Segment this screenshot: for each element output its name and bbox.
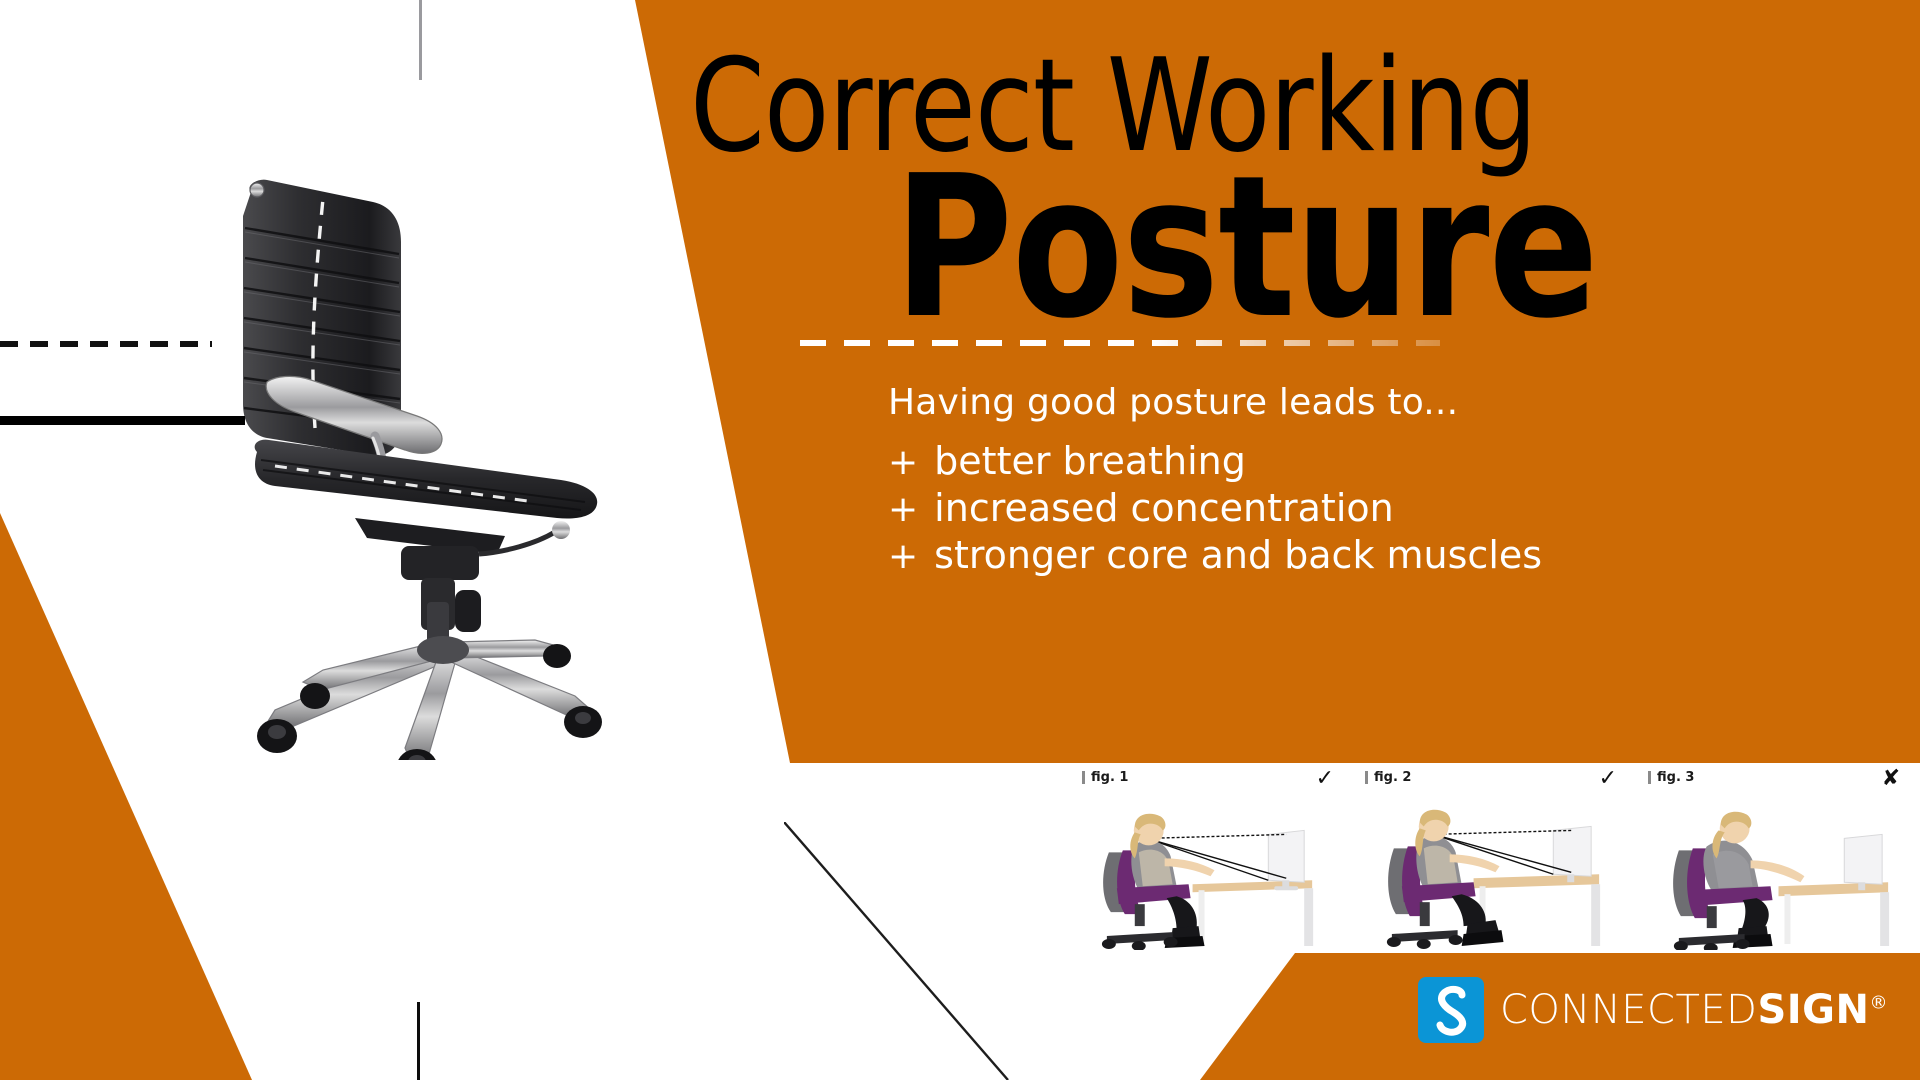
registered-trademark-icon: ®	[1869, 993, 1888, 1014]
figure-caption: fig. 1	[1082, 771, 1128, 784]
figure-illustration	[1356, 800, 1637, 950]
check-icon: ✓	[1316, 767, 1334, 789]
list-item: + increased concentration	[888, 485, 1542, 532]
list-item-label: stronger core and back muscles	[934, 532, 1542, 578]
figure-illustration	[1073, 800, 1354, 950]
brand-logo[interactable]: CONNECTEDSIGN®	[1418, 977, 1888, 1043]
figure-illustration	[1639, 800, 1920, 950]
decor-vertical-line-top	[419, 0, 422, 80]
brand-wordmark: CONNECTEDSIGN®	[1500, 987, 1888, 1033]
benefits-list: + better breathing + increased concentra…	[888, 438, 1542, 579]
decor-vertical-line-bottom	[417, 1002, 420, 1080]
brand-word-sign: SIGN	[1757, 987, 1869, 1033]
headline-line-2: Posture	[894, 164, 1810, 333]
figure-panel-3: fig. 3 ✘	[1637, 765, 1920, 950]
poster-canvas: Correct Working Posture Having good post…	[0, 0, 1920, 1080]
posture-figure-strip: fig. 1 ✓	[1073, 765, 1920, 950]
plus-icon: +	[888, 441, 918, 485]
list-item-label: increased concentration	[934, 485, 1394, 531]
decor-dashed-line-left	[0, 341, 212, 347]
plus-icon: +	[888, 488, 918, 532]
brand-word-connected: CONNECTED	[1500, 987, 1757, 1033]
figure-panel-1: fig. 1 ✓	[1073, 765, 1354, 950]
figure-caption: fig. 2	[1365, 771, 1411, 784]
check-icon: ✓	[1599, 767, 1617, 789]
decor-solid-rule-left	[0, 416, 245, 425]
figure-panel-2: fig. 2 ✓	[1354, 765, 1637, 950]
list-item: + stronger core and back muscles	[888, 532, 1542, 579]
decor-diagonal-line	[784, 822, 1044, 1080]
page-title: Correct Working Posture	[690, 52, 1890, 333]
figure-caption: fig. 3	[1648, 771, 1694, 784]
lede-text: Having good posture leads to...	[888, 382, 1458, 423]
list-item: + better breathing	[888, 438, 1542, 485]
cross-icon: ✘	[1882, 767, 1900, 789]
office-chair-image	[205, 150, 635, 760]
list-item-label: better breathing	[934, 438, 1246, 484]
connectedsign-mark-icon	[1418, 977, 1484, 1043]
plus-icon: +	[888, 535, 918, 579]
